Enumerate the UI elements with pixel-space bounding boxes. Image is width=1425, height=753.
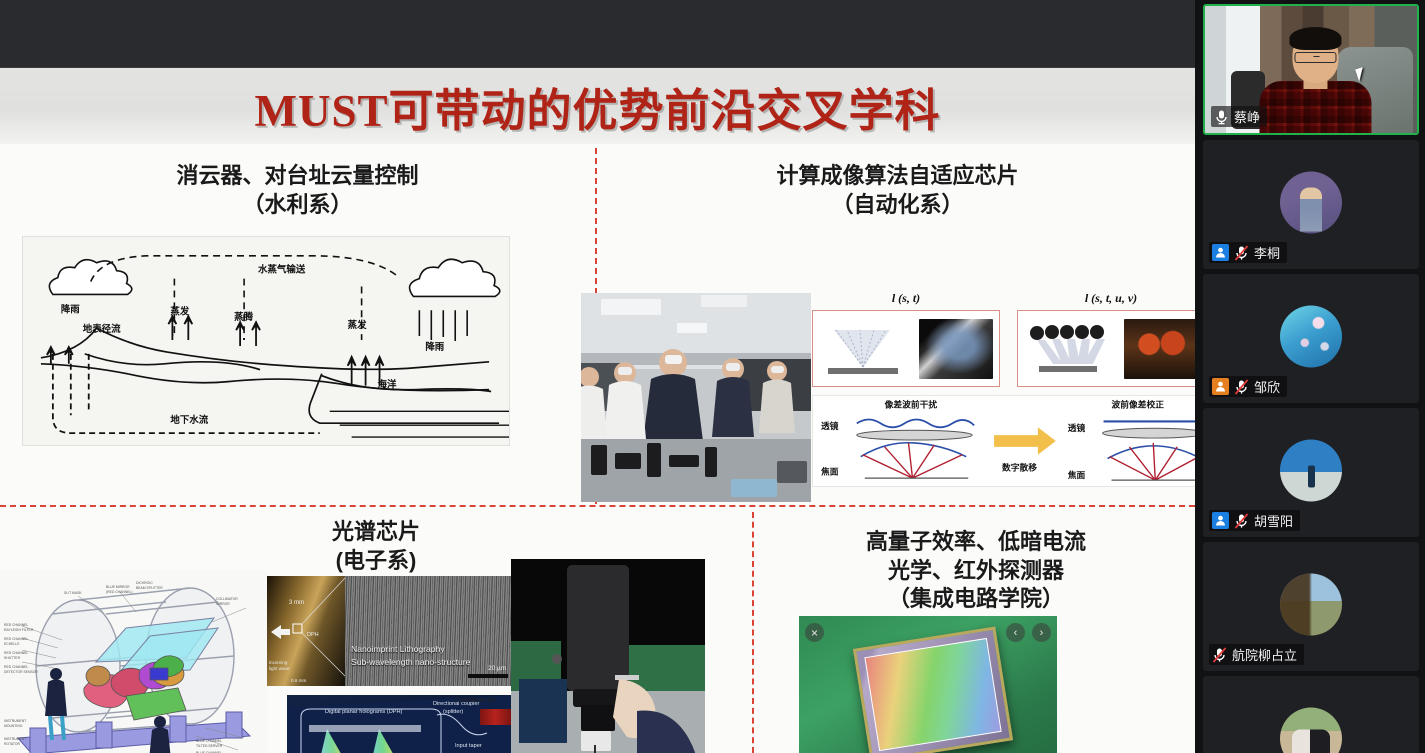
svg-text:DPH: DPH <box>307 632 319 638</box>
person-badge-icon <box>1212 244 1229 261</box>
svg-text:incoming: incoming <box>269 660 288 665</box>
q4-heading-line2: 光学、红外探测器 <box>757 557 1195 586</box>
sensor-die-surface <box>864 638 1002 751</box>
participant-namebar: 李桐 <box>1209 242 1287 263</box>
svg-text:RED CHANNEL: RED CHANNEL <box>4 623 28 627</box>
glasses <box>1294 52 1336 63</box>
mic-muted-icon <box>1234 379 1249 395</box>
scale-bar-label: 20 µm <box>488 665 506 672</box>
avatar <box>1280 707 1342 753</box>
participant-name: 航院柳占立 <box>1232 645 1297 664</box>
light-field-card-4d <box>1017 310 1195 387</box>
meeting-window: MUST可带动的优势前沿交叉学科 消云器、对台址云量控制 （水利系） <box>0 0 1425 753</box>
svg-text:RED CHANNEL: RED CHANNEL <box>4 637 28 641</box>
participant-namebar: 蔡峥 <box>1211 106 1267 127</box>
person-badge-icon <box>1212 378 1229 395</box>
label-surface-runoff: 地表径流 <box>83 323 121 335</box>
close-icon[interactable]: × <box>805 623 824 642</box>
label-groundwater-flow: 地下水流 <box>170 414 208 426</box>
participant-namebar: 航院柳占立 <box>1209 644 1304 665</box>
equation-2d: l (s, t) <box>812 291 1000 306</box>
multi-aperture-diagram <box>1025 320 1111 378</box>
q2-heading-line1: 计算成像算法自适应芯片 <box>600 162 1195 191</box>
q3-heading-line1: 光谱芯片 <box>0 518 752 547</box>
label-transpiration: 蒸腾 <box>234 311 253 323</box>
prev-icon[interactable]: ‹ <box>1006 623 1025 642</box>
svg-text:BLUE MIRROR: BLUE MIRROR <box>106 585 130 589</box>
participant-name: 胡雪阳 <box>1254 511 1293 530</box>
label-rain-right: 降雨 <box>425 341 444 353</box>
scale-bar-icon <box>468 674 508 678</box>
participant-tile[interactable]: 蔡峥 <box>1203 4 1419 135</box>
sample-closeup-photo: 3 mm DPH incoming light wave 0.6 mm <box>267 576 345 686</box>
nanoimprint-figure: 3 mm DPH incoming light wave 0.6 mm Nano… <box>267 576 514 686</box>
avatar <box>1280 305 1342 367</box>
label-focal-right: 焦面 <box>1067 469 1086 480</box>
divider-horizontal <box>0 505 1195 507</box>
svg-text:MOUNTING: MOUNTING <box>4 724 23 728</box>
fly-compound-eye-photo <box>1124 319 1196 379</box>
optical-fiber-strip <box>480 709 514 725</box>
participant-name: 蔡峥 <box>1234 107 1260 126</box>
participant-namebar: 邹欣 <box>1209 376 1287 397</box>
person-badge-icon <box>1212 512 1229 529</box>
svg-text:ECHELLE: ECHELLE <box>4 642 20 646</box>
label-vapor-transport: 水蒸气输送 <box>258 264 306 276</box>
mic-muted-icon <box>1212 647 1227 663</box>
spectrometer-cad-drawing: RED CHANNELRAYLEIGH FILTER RED CHANNELEC… <box>0 570 268 753</box>
label-digital-shift: 数字散移 <box>1002 461 1037 472</box>
mic-muted-icon <box>1234 245 1249 261</box>
nanoimprint-machine-photo <box>511 559 705 753</box>
quadrant-cloud-dispersal: 消云器、对台址云量控制 （水利系） <box>0 152 595 504</box>
svg-text:SHUTTER: SHUTTER <box>4 656 21 660</box>
avatar <box>1280 171 1342 233</box>
mic-muted-icon <box>1234 513 1249 529</box>
next-icon[interactable]: › <box>1032 623 1051 642</box>
nano-labels: Nanoimprint Lithography Sub-wavelength n… <box>351 643 470 668</box>
mic-on-icon <box>1214 109 1229 125</box>
cmos-sensor-photo <box>919 319 993 379</box>
svg-text:BEAM SPLITTER: BEAM SPLITTER <box>136 586 163 590</box>
q2-heading-line2: （自动化系） <box>600 191 1195 220</box>
svg-text:TILTED SERVER: TILTED SERVER <box>196 744 223 748</box>
label-ocean: 海洋 <box>378 379 397 391</box>
participant-strip[interactable]: 蔡峥 <box>1195 0 1425 753</box>
equation-4d: l (s, t, u, v) <box>1017 291 1195 306</box>
participant-namebar: 胡雪阳 <box>1209 510 1300 531</box>
q1-heading-line1: 消云器、对台址云量控制 <box>0 162 595 191</box>
svg-text:ROTATOR: ROTATOR <box>4 742 21 746</box>
light-field-panels: l (s, t) l (s, t, u, v) <box>812 292 1195 387</box>
light-cone-diagram <box>820 320 906 378</box>
svg-text:BLUE CHANNEL: BLUE CHANNEL <box>196 739 222 743</box>
svg-text:MIRROR: MIRROR <box>216 602 230 606</box>
label-evaporation-2: 蒸发 <box>348 319 367 331</box>
citation-label: Calafiore+16 <box>455 697 495 704</box>
svg-text:INSTRUMENT: INSTRUMENT <box>4 737 26 741</box>
svg-text:SLIT MASK: SLIT MASK <box>64 591 82 595</box>
presentation-slide: MUST可带动的优势前沿交叉学科 消云器、对台址云量控制 （水利系） <box>0 68 1195 753</box>
light-field-card-2d <box>812 310 1000 387</box>
participant-tile[interactable]: 李桐 <box>1203 140 1419 269</box>
label-coupler-sub: (splitter) <box>443 709 463 715</box>
label-input-taper: Input taper <box>455 743 482 749</box>
label-aberrated-wavefront: 像差波前干扰 <box>885 399 938 410</box>
svg-text:0.6 mm: 0.6 mm <box>291 678 306 683</box>
quadrant-heading: 高量子效率、低暗电流 光学、红外探测器 （集成电路学院） <box>757 512 1195 614</box>
hair <box>1289 27 1341 50</box>
nano-label-line1: Nanoimprint Lithography <box>351 643 470 655</box>
nano-label-line2: Sub-wavelength nano-structure <box>351 656 470 668</box>
svg-text:(RED CHANNEL): (RED CHANNEL) <box>106 590 133 594</box>
svg-text:COLLIMATOR: COLLIMATOR <box>216 597 238 601</box>
svg-text:3 mm: 3 mm <box>289 600 304 606</box>
quadrant-computational-imaging: 计算成像算法自适应芯片 （自动化系） <box>600 152 1195 504</box>
q1-heading-line2: （水利系） <box>0 191 595 220</box>
label-lens-left: 透镜 <box>821 420 839 431</box>
participant-tile[interactable]: 航院柳占立 <box>1203 542 1419 671</box>
svg-text:DICHROIC: DICHROIC <box>136 581 153 585</box>
label-rain-left: 降雨 <box>61 303 80 315</box>
participant-tile[interactable]: 胡雪阳 <box>1203 408 1419 537</box>
svg-text:RED CHANNEL: RED CHANNEL <box>4 651 28 655</box>
slide-title-banner: MUST可带动的优势前沿交叉学科 <box>0 68 1195 144</box>
participant-name: 邹欣 <box>1254 377 1280 396</box>
label-dph: Digital planar holograms (DPH) <box>325 709 403 715</box>
label-focal-left: 焦面 <box>820 465 839 476</box>
svg-text:DETECTOR SENSOR: DETECTOR SENSOR <box>4 670 38 674</box>
sensor-die <box>853 627 1014 753</box>
svg-text:RED CHANNEL: RED CHANNEL <box>4 665 28 669</box>
quadrant-heading: 计算成像算法自适应芯片 （自动化系） <box>600 152 1195 219</box>
speaker-figure <box>1259 37 1371 133</box>
sem-nanostructure-photo: Nanoimprint Lithography Sub-wavelength n… <box>345 576 514 686</box>
label-evaporation-1: 蒸发 <box>170 305 189 317</box>
water-cycle-svg: 水蒸气输送 降雨 降雨 蒸发 蒸腾 蒸发 地表径流 地下水流 海洋 <box>23 237 509 445</box>
cmos-image-sensor-photo: × ‹ › <box>799 616 1057 753</box>
page-title: MUST可带动的优势前沿交叉学科 <box>254 74 940 139</box>
q4-heading-line3: （集成电路学院） <box>757 585 1195 614</box>
shared-screen-topbar <box>0 0 1195 68</box>
avatar <box>1280 439 1342 501</box>
q4-heading-line1: 高量子效率、低暗电流 <box>757 528 1195 557</box>
svg-text:INSTRUMENT: INSTRUMENT <box>4 719 26 723</box>
quadrant-heading: 消云器、对台址云量控制 （水利系） <box>0 152 595 219</box>
laboratory-visit-photo <box>581 293 811 502</box>
wavefront-correction-diagram: 像差波前干扰 透镜 焦面 数字散移 波前像差校正 透镜 <box>812 395 1195 487</box>
participant-name: 李桐 <box>1254 243 1280 262</box>
svg-text:RAYLEIGH FILTER: RAYLEIGH FILTER <box>4 628 34 632</box>
shared-screen-area[interactable]: MUST可带动的优势前沿交叉学科 消云器、对台址云量控制 （水利系） <box>0 0 1195 753</box>
svg-text:light wave: light wave <box>269 666 290 671</box>
quadrant-detectors: 高量子效率、低暗电流 光学、红外探测器 （集成电路学院） × ‹ › <box>757 512 1195 753</box>
label-corrected-wavefront: 波前像差校正 <box>1111 399 1164 410</box>
participant-tile[interactable]: 邹欣 <box>1203 274 1419 403</box>
label-lens-right: 透镜 <box>1068 422 1086 433</box>
divider-vertical-bottom <box>752 512 754 753</box>
avatar <box>1280 573 1342 635</box>
water-cycle-diagram: 水蒸气输送 降雨 降雨 蒸发 蒸腾 蒸发 地表径流 地下水流 海洋 <box>22 236 510 446</box>
participant-tile[interactable] <box>1203 676 1419 753</box>
